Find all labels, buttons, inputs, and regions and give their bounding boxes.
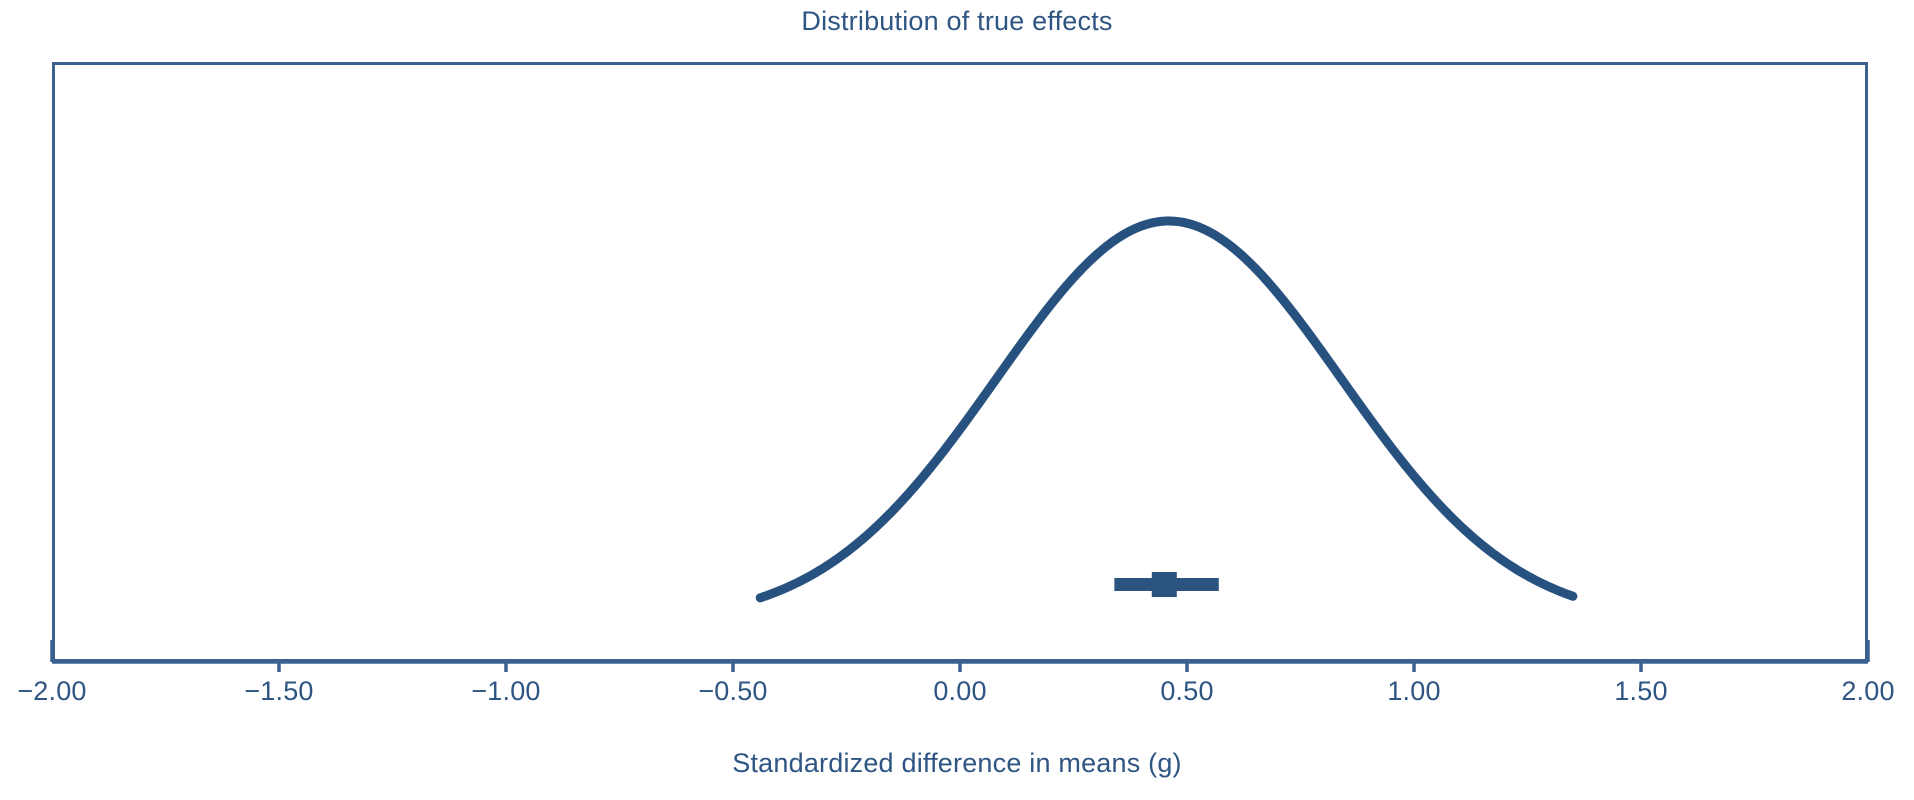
x-axis-tick-label: 0.50	[1160, 676, 1213, 707]
x-axis-tick-label: 1.50	[1614, 676, 1667, 707]
x-axis-tick-label-group: −2.00−1.50−1.00−0.500.000.501.001.502.00	[0, 676, 1914, 716]
x-axis-tick-marks	[52, 640, 1868, 672]
x-axis-tick-label: −1.00	[471, 676, 540, 707]
x-axis-title: Standardized difference in means (g)	[0, 748, 1914, 779]
x-axis-tick-label: 0.00	[933, 676, 986, 707]
chart-title: Distribution of true effects	[0, 6, 1914, 37]
x-axis	[0, 640, 1914, 680]
x-axis-tick-label: −1.50	[244, 676, 313, 707]
x-axis-tick-label: 2.00	[1841, 676, 1894, 707]
x-axis-tick-label: 1.00	[1387, 676, 1440, 707]
x-axis-tick-label: −2.00	[17, 676, 86, 707]
plot-area-frame	[52, 62, 1868, 662]
figure-container: Distribution of true effects −2.00−1.50−…	[0, 0, 1914, 800]
x-axis-tick-label: −0.50	[698, 676, 767, 707]
